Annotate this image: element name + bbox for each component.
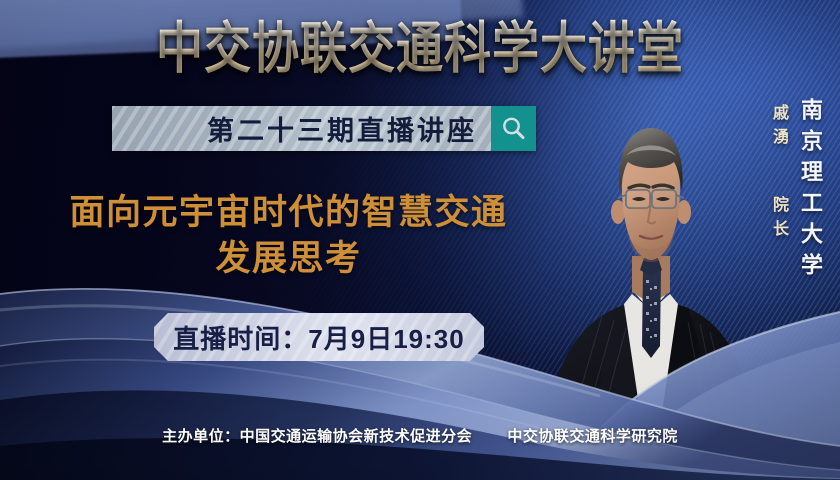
lecture-title: 面向元宇宙时代的智慧交通 发展思考 <box>36 190 541 282</box>
organizer-secondary: 中交协联交通科学研究院 <box>507 428 678 445</box>
lecture-title-line-2: 发展思考 <box>36 236 541 282</box>
lecture-title-line-1: 面向元宇宙时代的智慧交通 <box>36 190 541 236</box>
speaker-role: 院长 <box>766 196 790 244</box>
episode-label: 第二十三期直播讲座 <box>207 109 491 148</box>
broadcast-time-badge: 直播时间：7月9日19:30 <box>154 313 484 361</box>
search-icon[interactable] <box>491 106 536 151</box>
page-title: 中交协联交通科学大讲堂 <box>156 18 684 80</box>
broadcast-time-text: 直播时间：7月9日19:30 <box>173 319 464 356</box>
organizer-footer: 主办单位：中国交通运输协会新技术促进分会 中交协联交通科学研究院 <box>0 425 840 446</box>
speaker-university: 南京理工大学 <box>794 98 826 284</box>
poster-header: 中交协联交通科学大讲堂 <box>0 18 840 71</box>
episode-bar: 第二十三期直播讲座 <box>112 106 536 151</box>
organizer-primary: 主办单位：中国交通运输协会新技术促进分会 <box>162 428 472 445</box>
livestream-poster: 中交协联交通科学大讲堂 第二十三期直播讲座 面向元宇宙时代的智慧交通 发展思考 … <box>0 0 840 480</box>
speaker-name: 戚湧 <box>766 104 790 152</box>
episode-bar-body: 第二十三期直播讲座 <box>112 106 491 151</box>
